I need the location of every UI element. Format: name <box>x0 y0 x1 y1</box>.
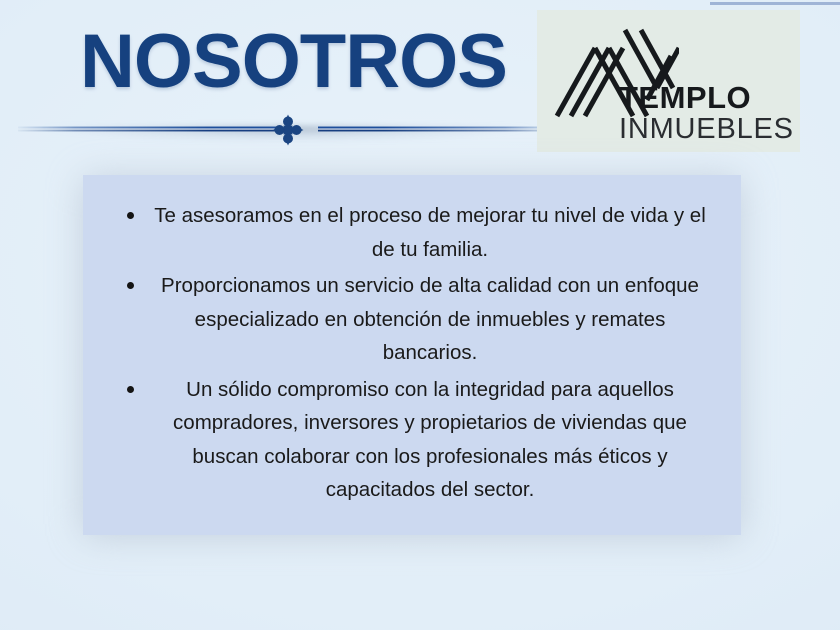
list-item: Te asesoramos en el proceso de mejorar t… <box>83 199 741 266</box>
content-panel: Te asesoramos en el proceso de mejorar t… <box>83 175 741 535</box>
bullet-dot-icon <box>127 212 134 219</box>
bullet-dot-icon <box>127 386 134 393</box>
list-item-text: Te asesoramos en el proceso de mejorar t… <box>154 204 706 261</box>
list-item-text: Un sólido compromiso con la integridad p… <box>173 378 687 502</box>
divider-rule-left <box>18 126 280 132</box>
bullet-dot-icon <box>127 282 134 289</box>
top-accent-rule <box>710 2 840 5</box>
list-item: Proporcionamos un servicio de alta calid… <box>83 269 741 370</box>
ornamental-divider <box>18 108 558 156</box>
logo-wordmark: TEMPLO INMUEBLES <box>619 82 799 145</box>
divider-rule-right <box>318 126 558 132</box>
page-title: NOSOTROS <box>80 22 500 102</box>
list-item: Un sólido compromiso con la integridad p… <box>83 373 741 507</box>
list-item-text: Proporcionamos un servicio de alta calid… <box>161 274 699 364</box>
quatrefoil-ornament-icon <box>270 112 306 148</box>
logo-name-primary: TEMPLO <box>619 82 799 113</box>
bullet-list: Te asesoramos en el proceso de mejorar t… <box>83 199 741 510</box>
slide-canvas: NOSOTROS <box>0 0 840 630</box>
logo-name-secondary: INMUEBLES <box>619 113 799 145</box>
brand-logo: TEMPLO INMUEBLES <box>537 10 800 152</box>
